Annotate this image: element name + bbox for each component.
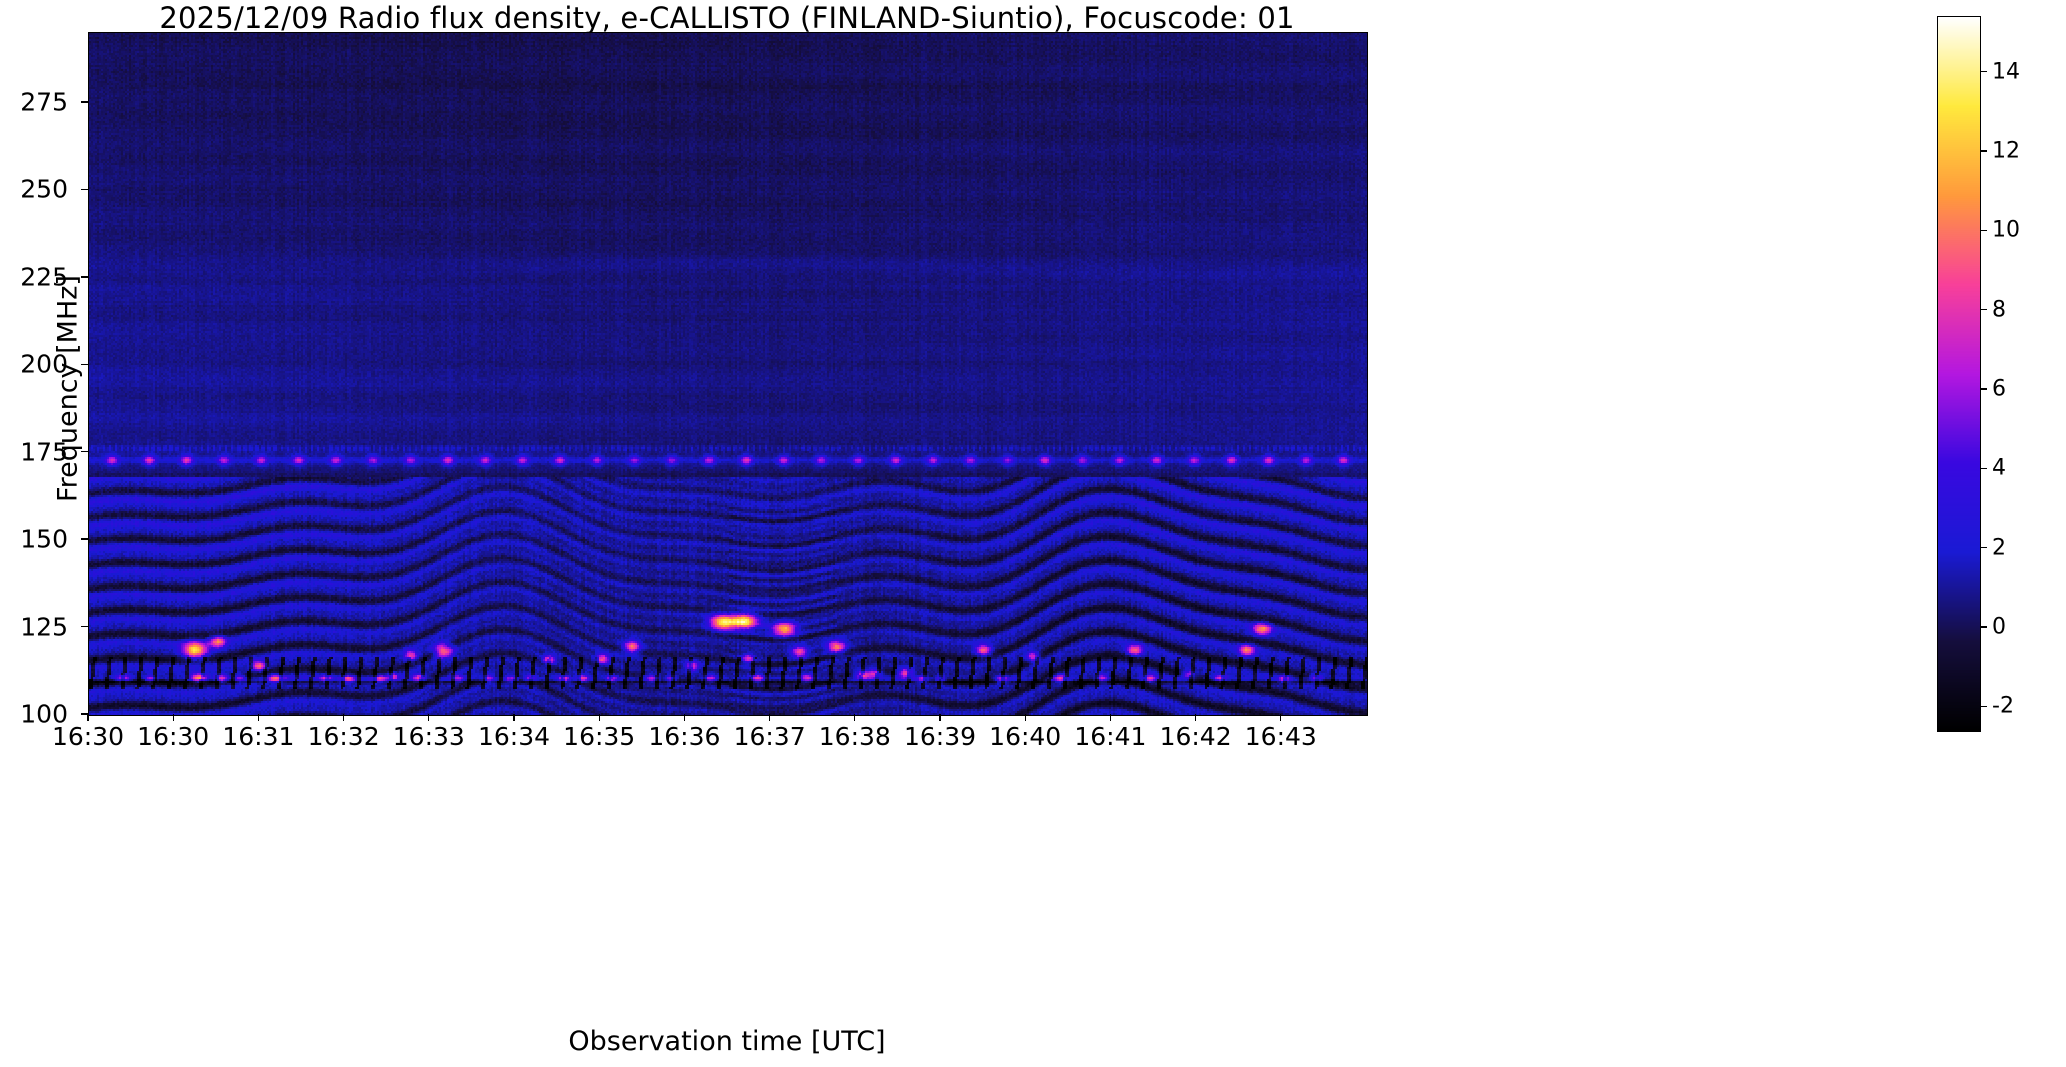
- x-tick-label: 16:36: [648, 722, 720, 751]
- x-tick-label: 16:41: [1074, 722, 1146, 751]
- y-tick-mark: [81, 101, 88, 102]
- x-tick-mark: [599, 714, 600, 721]
- x-tick-label: 16:37: [734, 722, 806, 751]
- colorbar-tick-mark: [1980, 150, 1987, 151]
- x-tick-label: 16:33: [393, 722, 465, 751]
- x-tick-mark: [258, 714, 259, 721]
- colorbar-tick-label: 4: [1992, 456, 2006, 481]
- x-tick-mark: [1280, 714, 1281, 721]
- colorbar-tick-label: 12: [1992, 138, 2020, 163]
- x-tick-label: 16:42: [1160, 722, 1232, 751]
- x-tick-mark: [684, 714, 685, 721]
- colorbar-tick-label: 14: [1992, 59, 2020, 84]
- x-axis-title: Observation time [UTC]: [88, 1026, 1366, 1057]
- x-tick-label: 16:39: [904, 722, 976, 751]
- colorbar-ticks: [1980, 16, 1990, 730]
- colorbar-gradient: [1938, 17, 1980, 731]
- y-tick-mark: [81, 276, 88, 277]
- y-tick-mark: [81, 626, 88, 627]
- x-tick-mark: [939, 714, 940, 721]
- colorbar-tick-label: 6: [1992, 376, 2006, 401]
- colorbar-tick-mark: [1980, 547, 1987, 548]
- x-tick-mark: [428, 714, 429, 721]
- colorbar-tick-label: 8: [1992, 297, 2006, 322]
- colorbar-tick-mark: [1980, 468, 1987, 469]
- y-tick-mark: [81, 538, 88, 539]
- figure-canvas: 2025/12/09 Radio flux density, e-CALLIST…: [0, 0, 2066, 1067]
- colorbar-tick-label: 2: [1992, 535, 2006, 560]
- colorbar-tick-label: 10: [1992, 218, 2020, 243]
- colorbar-tick-label: -2: [1992, 694, 2014, 719]
- x-tick-mark: [854, 714, 855, 721]
- x-tick-mark: [1110, 714, 1111, 721]
- x-axis-ticks: [88, 714, 1366, 722]
- x-tick-label: 16:35: [563, 722, 635, 751]
- spectrogram-image: [89, 33, 1367, 715]
- x-tick-label: 16:40: [989, 722, 1061, 751]
- x-tick-label: 16:32: [308, 722, 380, 751]
- x-tick-label: 16:31: [222, 722, 294, 751]
- colorbar: [1937, 16, 1981, 732]
- colorbar-tick-mark: [1980, 230, 1987, 231]
- colorbar-title-container: dB above background: [2026, 16, 2060, 730]
- spectrogram-axes[interactable]: [88, 32, 1368, 716]
- x-tick-mark: [769, 714, 770, 721]
- chart-title: 2025/12/09 Radio flux density, e-CALLIST…: [88, 2, 1366, 34]
- x-axis-tick-labels: 16:3016:3016:3116:3216:3316:3416:3516:36…: [88, 722, 1366, 756]
- colorbar-tick-mark: [1980, 309, 1987, 310]
- x-tick-label: 16:34: [478, 722, 550, 751]
- colorbar-tick-mark: [1980, 626, 1987, 627]
- x-tick-label: 16:30: [137, 722, 209, 751]
- x-tick-label: 16:38: [819, 722, 891, 751]
- colorbar-tick-label: 0: [1992, 614, 2006, 639]
- colorbar-tick-mark: [1980, 71, 1987, 72]
- y-tick-mark: [81, 364, 88, 365]
- x-tick-mark: [1195, 714, 1196, 721]
- x-tick-label: 16:30: [52, 722, 124, 751]
- colorbar-tick-mark: [1980, 388, 1987, 389]
- x-tick-mark: [87, 714, 88, 721]
- x-tick-mark: [343, 714, 344, 721]
- x-tick-mark: [173, 714, 174, 721]
- x-tick-mark: [1025, 714, 1026, 721]
- y-tick-mark: [81, 451, 88, 452]
- x-tick-mark: [513, 714, 514, 721]
- y-axis-ticks: [0, 32, 88, 714]
- colorbar-tick-mark: [1980, 706, 1987, 707]
- x-tick-label: 16:43: [1245, 722, 1317, 751]
- y-tick-mark: [81, 189, 88, 190]
